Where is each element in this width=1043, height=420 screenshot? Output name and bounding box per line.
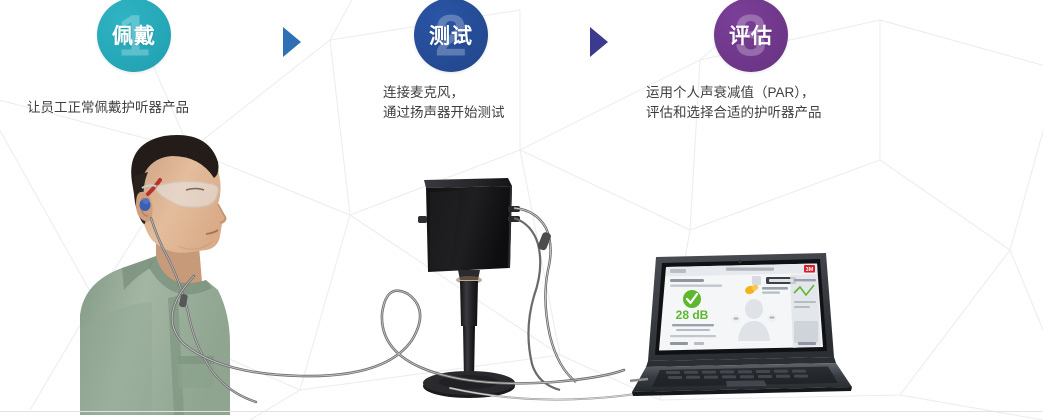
photo-floor-cables bbox=[150, 270, 710, 420]
step-2-caption: 连接麦克风， 通过扬声器开始测试 bbox=[383, 83, 505, 123]
step-list: 1 佩戴 让员工正常佩戴护听器产品 2 测试 连接麦克风， 通过扬声器开始测试 bbox=[0, 0, 1043, 140]
photo-scene: 3M 28 dB bbox=[0, 120, 1043, 420]
step-3-caption: 运用个人声衰减值（PAR）， 评估和选择合适的护听器产品 bbox=[646, 83, 822, 123]
laptop-reading-value: 28 dB bbox=[676, 308, 709, 322]
step-3-caption-line-1: 运用个人声衰减值（PAR）， bbox=[646, 83, 822, 103]
step-1-badge-label: 佩戴 bbox=[112, 20, 156, 50]
step-1-caption-line-1: 让员工正常佩戴护听器产品 bbox=[27, 98, 189, 118]
arrow-step1-to-step2-icon bbox=[283, 27, 301, 57]
step-1-badge[interactable]: 1 佩戴 bbox=[97, 0, 171, 72]
step-3-badge-label: 评估 bbox=[729, 20, 773, 50]
svg-text:3M: 3M bbox=[806, 267, 814, 273]
arrow-step2-to-step3-icon bbox=[590, 27, 608, 57]
infographic-root: 1 佩戴 让员工正常佩戴护听器产品 2 测试 连接麦克风， 通过扬声器开始测试 bbox=[0, 0, 1043, 420]
bottom-divider bbox=[0, 411, 1043, 412]
step-2-badge[interactable]: 2 测试 bbox=[414, 0, 488, 72]
step-3-badge[interactable]: 3 评估 bbox=[714, 0, 788, 72]
step-1-caption: 让员工正常佩戴护听器产品 bbox=[27, 98, 189, 118]
step-2-caption-line-1: 连接麦克风， bbox=[383, 83, 505, 103]
step-2-badge-label: 测试 bbox=[429, 20, 473, 50]
photo-laptop-running-fit-test-software: 3M 28 dB bbox=[630, 245, 855, 400]
